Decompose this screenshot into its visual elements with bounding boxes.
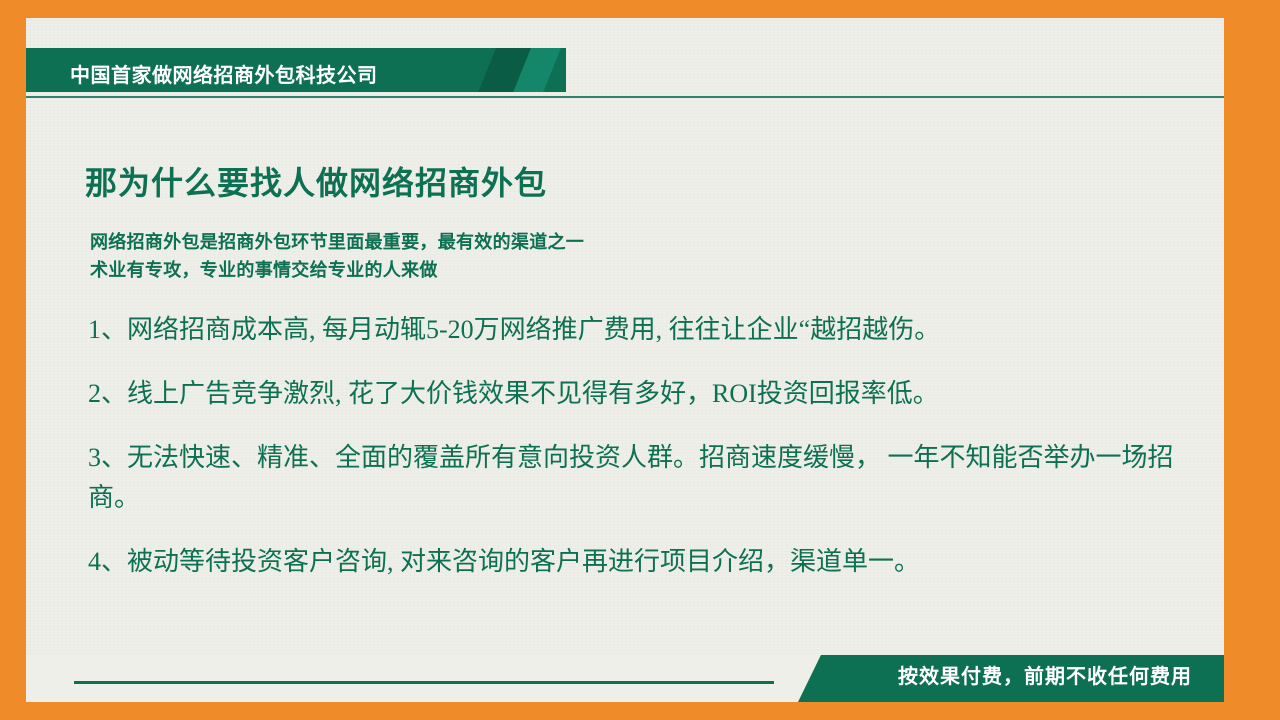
page-title: 那为什么要找人做网络招商外包 bbox=[85, 158, 547, 204]
subtitle-group: 网络招商外包是招商外包环节里面最重要，最有效的渠道之一 术业有专攻，专业的事情交… bbox=[90, 228, 584, 284]
subtitle-line-1: 网络招商外包是招商外包环节里面最重要，最有效的渠道之一 bbox=[90, 228, 584, 256]
footer-band: 按效果付费，前期不收任何费用 bbox=[26, 655, 1224, 702]
slide: 中国首家做网络招商外包科技公司 那为什么要找人做网络招商外包 网络招商外包是招商… bbox=[0, 0, 1280, 720]
footer-underline bbox=[74, 681, 774, 684]
slide-panel: 中国首家做网络招商外包科技公司 那为什么要找人做网络招商外包 网络招商外包是招商… bbox=[26, 18, 1224, 702]
footer-notch bbox=[26, 655, 768, 702]
footer-text: 按效果付费，前期不收任何费用 bbox=[898, 660, 1192, 689]
header-divider bbox=[26, 96, 1224, 98]
list-item: 3、无法快速、精准、全面的覆盖所有意向投资人群。招商速度缓慢， 一年不知能否举办… bbox=[88, 438, 1208, 518]
list-item: 2、线上广告竞争激烈, 花了大价钱效果不见得有多好，ROI投资回报率低。 bbox=[88, 374, 1208, 414]
reason-list: 1、网络招商成本高, 每月动辄5-20万网络推广费用, 往往让企业“越招越伤。 … bbox=[88, 310, 1208, 606]
list-item: 1、网络招商成本高, 每月动辄5-20万网络推广费用, 往往让企业“越招越伤。 bbox=[88, 310, 1208, 350]
subtitle-line-2: 术业有专攻，专业的事情交给专业的人来做 bbox=[90, 256, 584, 284]
header-title: 中国首家做网络招商外包科技公司 bbox=[70, 59, 500, 88]
list-item: 4、被动等待投资客户咨询, 对来咨询的客户再进行项目介绍，渠道单一。 bbox=[88, 542, 1208, 582]
